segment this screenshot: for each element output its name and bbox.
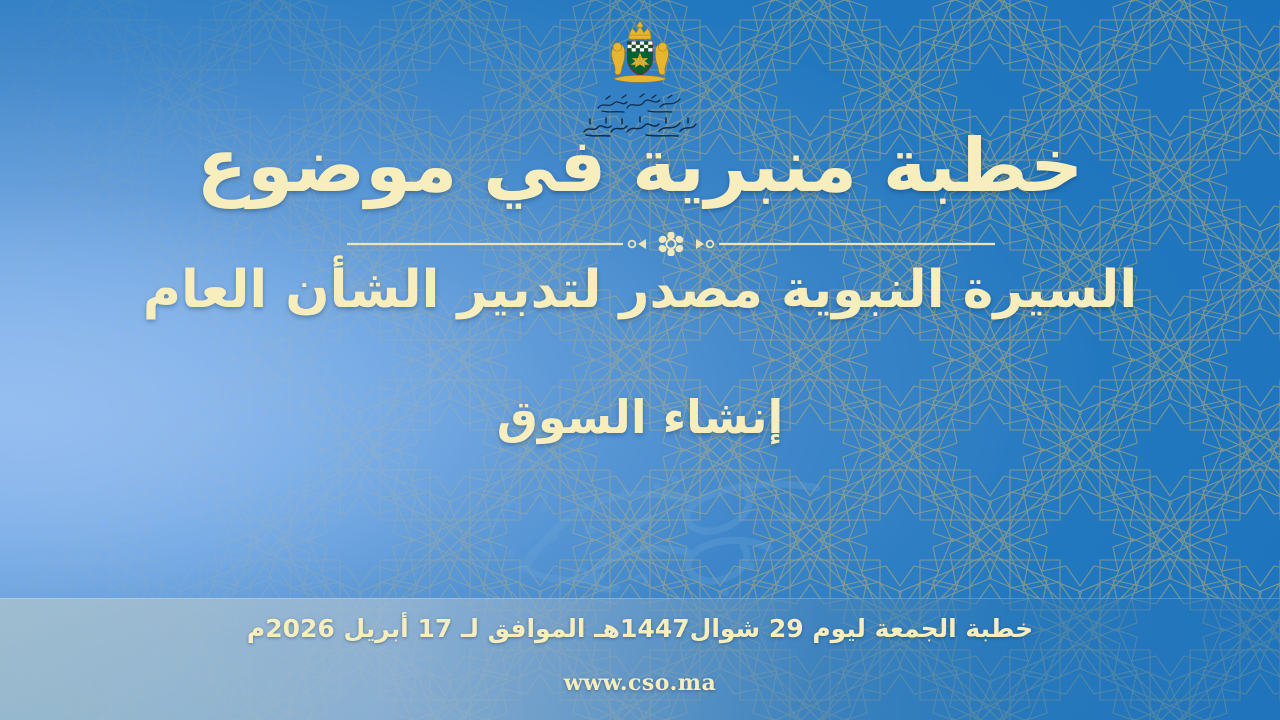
website-url[interactable]: www.cso.ma <box>0 670 1280 696</box>
kingdom-of-morocco-label <box>594 92 686 114</box>
floral-rosette-divider <box>347 232 995 256</box>
moroccan-coat-of-arms-icon <box>601 18 679 96</box>
page-title: خطبة منبرية في موضوع <box>0 128 1280 206</box>
sermon-date: خطبة الجمعة ليوم 29 شوال1447هـ الموافق ل… <box>0 614 1280 643</box>
sermon-poster: خطبة منبرية في موضوع السيرة النبوي <box>0 0 1280 720</box>
sermon-subject: السيرة النبوية مصدر لتدبير الشأن العام <box>0 262 1280 319</box>
footer-bar: خطبة الجمعة ليوم 29 شوال1447هـ الموافق ل… <box>0 598 1280 720</box>
crest-ribbon <box>613 75 666 82</box>
header-emblem-block <box>0 18 1280 139</box>
sermon-topic: إنشاء السوق <box>0 392 1280 443</box>
rosette-core <box>657 232 684 256</box>
